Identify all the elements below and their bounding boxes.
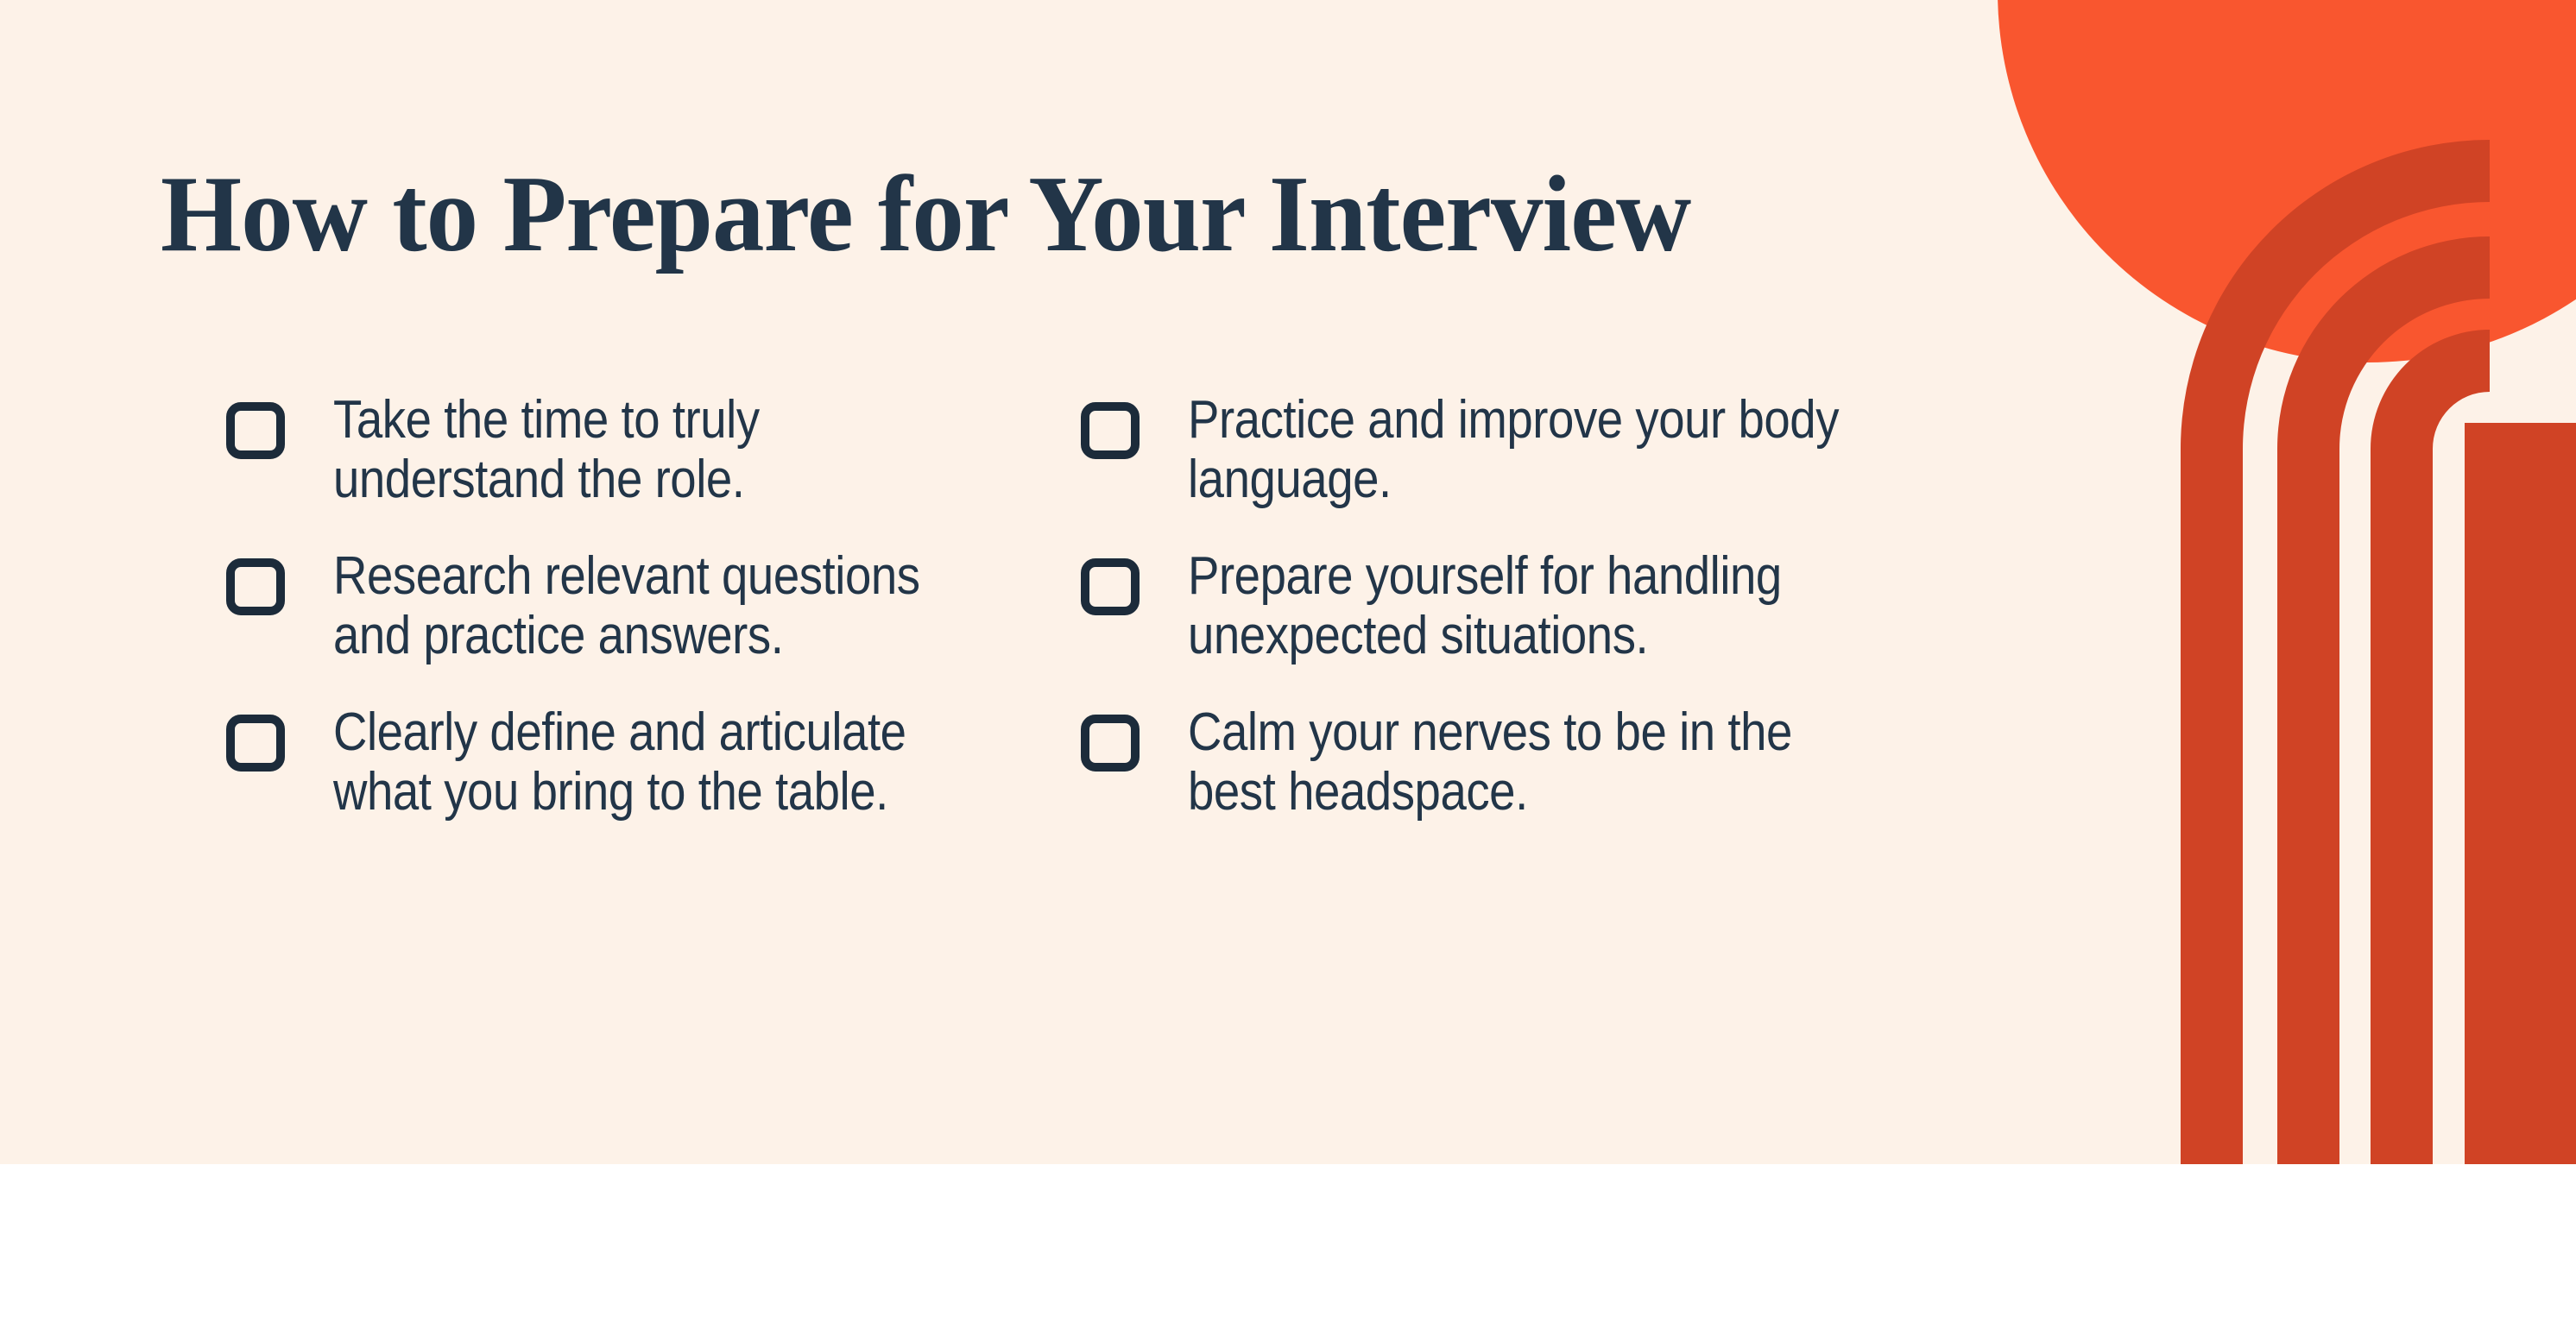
list-item[interactable]: Calm your nerves to be in the best heads… bbox=[1081, 702, 1935, 822]
checkbox-empty-icon[interactable] bbox=[1081, 402, 1140, 459]
checkbox-empty-icon[interactable] bbox=[1081, 715, 1140, 772]
checklist-column-right: Practice and improve your body language.… bbox=[1081, 390, 1935, 822]
list-item-label: Practice and improve your body language. bbox=[1188, 390, 1841, 510]
checklist-column-left: Take the time to truly understand the ro… bbox=[226, 390, 1081, 822]
list-item-label: Prepare yourself for handling unexpected… bbox=[1188, 546, 1841, 666]
list-item[interactable]: Take the time to truly understand the ro… bbox=[226, 390, 1081, 510]
checklist: Take the time to truly understand the ro… bbox=[0, 390, 1960, 822]
footer-bar bbox=[0, 1164, 2576, 1329]
list-item[interactable]: Prepare yourself for handling unexpected… bbox=[1081, 546, 1935, 666]
checkbox-empty-icon[interactable] bbox=[226, 402, 285, 459]
checkbox-empty-icon[interactable] bbox=[1081, 558, 1140, 615]
checkbox-empty-icon[interactable] bbox=[226, 558, 285, 615]
decorative-graphic bbox=[1954, 0, 2576, 1164]
checkbox-empty-icon[interactable] bbox=[226, 715, 285, 772]
list-item-label: Take the time to truly understand the ro… bbox=[333, 390, 971, 510]
orange-circle-shape bbox=[1998, 0, 2576, 362]
page-title: How to Prepare for Your Interview bbox=[161, 161, 1901, 269]
list-item-label: Clearly define and articulate what you b… bbox=[333, 702, 971, 822]
list-item-label: Research relevant questions and practice… bbox=[333, 546, 971, 666]
list-item[interactable]: Research relevant questions and practice… bbox=[226, 546, 1081, 666]
list-item-label: Calm your nerves to be in the best heads… bbox=[1188, 702, 1841, 822]
concentric-arch-stripes bbox=[2181, 140, 2576, 1164]
main-panel: How to Prepare for Your Interview Take t… bbox=[0, 0, 2576, 1164]
list-item[interactable]: Practice and improve your body language. bbox=[1081, 390, 1935, 510]
poster-canvas: How to Prepare for Your Interview Take t… bbox=[0, 0, 2576, 1329]
list-item[interactable]: Clearly define and articulate what you b… bbox=[226, 702, 1081, 822]
